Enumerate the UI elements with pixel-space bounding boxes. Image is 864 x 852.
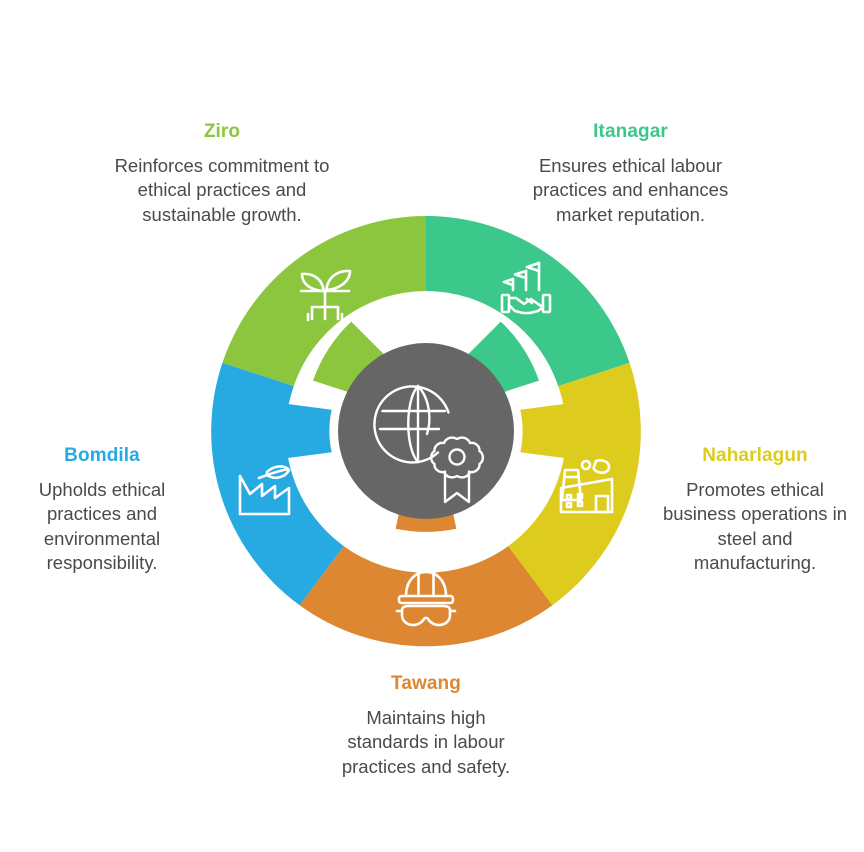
callout-title-ziro: Ziro [108, 120, 336, 144]
callout-body-itanagar: Ensures ethical labour practices and enh… [528, 154, 733, 227]
callout-title-bomdila: Bomdila [8, 444, 196, 468]
segment-arc-naharlagun[interactable] [508, 363, 641, 605]
wheel-segment-bomdila[interactable] [211, 363, 344, 605]
center-circle[interactable] [338, 343, 514, 519]
segment-arc-bomdila[interactable] [211, 363, 344, 605]
callout-body-bomdila: Upholds ethical practices and environmen… [8, 478, 196, 576]
callout-body-tawang: Maintains high standards in labour pract… [324, 706, 528, 779]
callout-itanagar: Itanagar Ensures ethical labour practice… [528, 120, 733, 227]
center-hub[interactable] [338, 343, 514, 519]
callout-bomdila: Bomdila Upholds ethical practices and en… [8, 444, 196, 575]
callout-naharlagun: Naharlagun Promotes ethical business ope… [655, 444, 855, 575]
callout-body-ziro: Reinforces commitment to ethical practic… [108, 154, 336, 227]
segment-spoke-bomdila [281, 403, 332, 458]
callout-tawang: Tawang Maintains high standards in labou… [324, 672, 528, 779]
callout-title-itanagar: Itanagar [528, 120, 733, 144]
segment-spoke-naharlagun [520, 403, 571, 458]
wheel-segment-naharlagun[interactable] [508, 363, 641, 605]
callout-title-naharlagun: Naharlagun [655, 444, 855, 468]
callout-body-naharlagun: Promotes ethical business operations in … [655, 478, 855, 576]
callout-title-tawang: Tawang [324, 672, 528, 696]
callout-ziro: Ziro Reinforces commitment to ethical pr… [108, 120, 336, 227]
infographic-canvas: Ziro Reinforces commitment to ethical pr… [0, 0, 864, 852]
